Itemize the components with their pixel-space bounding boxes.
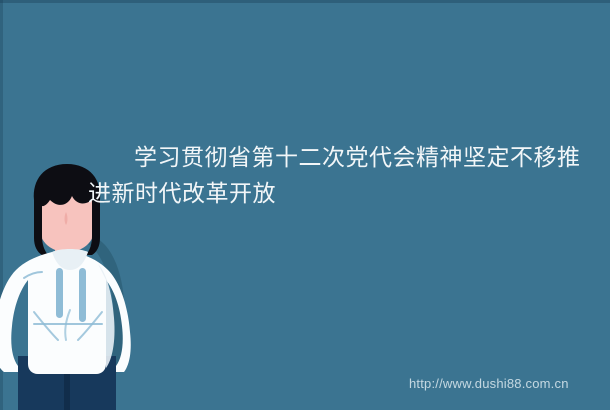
top-edge-shade — [0, 0, 610, 3]
page-title: 学习贯彻省第十二次党代会精神坚定不移推进新时代改革开放 — [88, 139, 593, 211]
source-watermark: http://www.dushi88.com.cn — [409, 376, 569, 392]
promo-banner: 学习贯彻省第十二次党代会精神坚定不移推进新时代改革开放 http://www.d… — [0, 0, 610, 410]
